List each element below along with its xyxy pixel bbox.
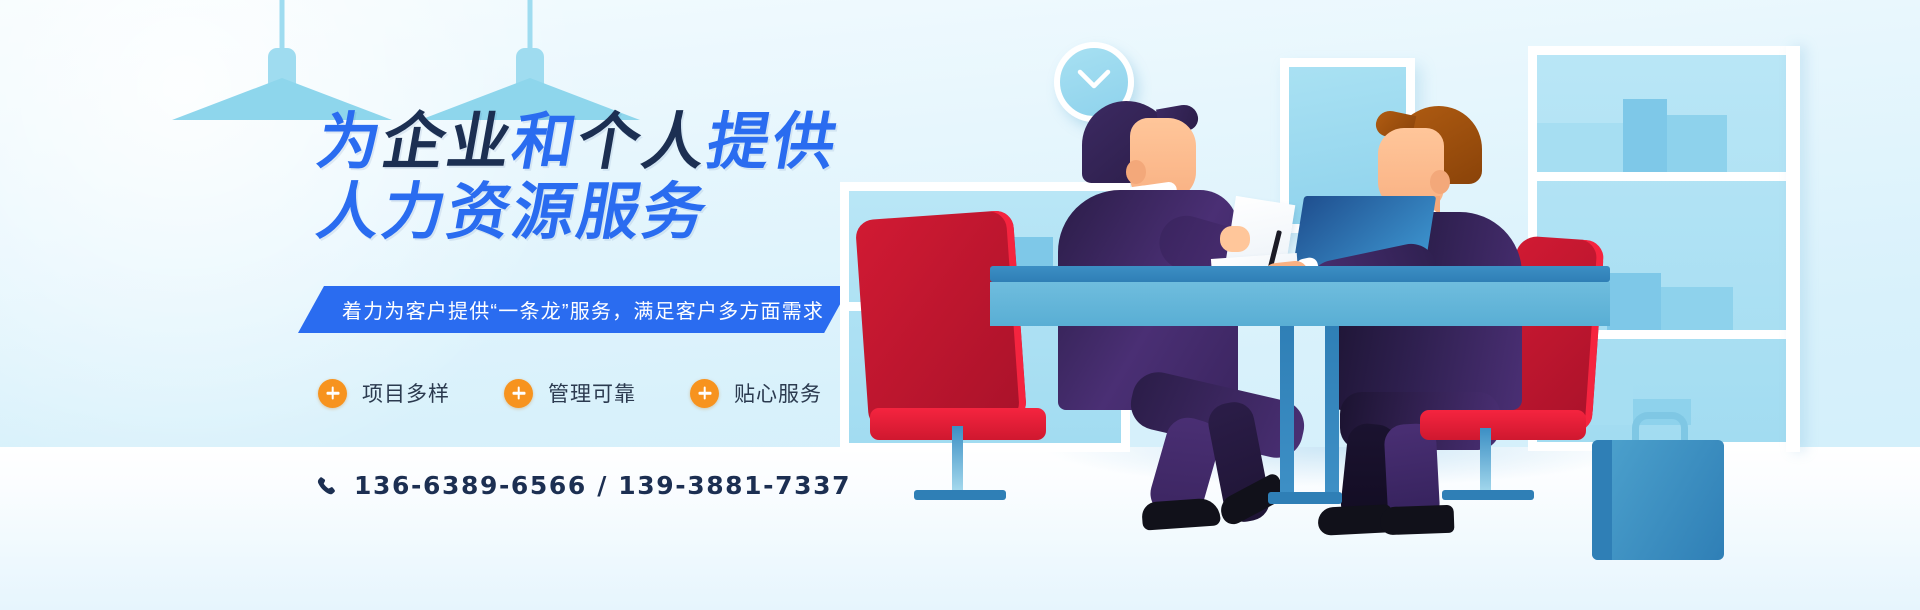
desk-body xyxy=(990,282,1610,326)
lamp-cord xyxy=(280,0,285,52)
person-left-hand xyxy=(1220,226,1250,252)
headline-block: 为企业和个人提供 人力资源服务 xyxy=(318,108,838,248)
feature-item[interactable]: 项目多样 xyxy=(318,378,450,408)
clock-hands-icon xyxy=(1077,69,1111,91)
office-illustration xyxy=(980,0,1920,610)
desk-top xyxy=(990,266,1610,282)
lamp-cord xyxy=(528,0,533,52)
feature-item[interactable]: 管理可靠 xyxy=(504,378,636,408)
shelf-divider xyxy=(1537,172,1789,181)
headline-segment: 提供 xyxy=(702,108,844,177)
phone-number: 136-6389-6566 / 139-3881-7337 xyxy=(354,471,851,500)
desk-foot xyxy=(1268,492,1342,504)
person-right-shoe xyxy=(1380,505,1455,536)
subtitle-text: 着力为客户提供“一条龙”服务，满足客户多方面需求 xyxy=(342,295,824,324)
hero-banner: 为企业和个人提供 人力资源服务 着力为客户提供“一条龙”服务，满足客户多方面需求… xyxy=(0,0,1920,610)
headline-segment: 企业 xyxy=(377,108,519,177)
feature-list: 项目多样 管理可靠 贴心服务 xyxy=(318,378,822,408)
headline-segment: 为 xyxy=(312,108,389,177)
shelf-post xyxy=(1786,46,1800,452)
feature-item[interactable]: 贴心服务 xyxy=(690,378,822,408)
plus-icon xyxy=(504,379,533,408)
feature-label: 贴心服务 xyxy=(734,378,822,408)
contact-row[interactable]: 136-6389-6566 / 139-3881-7337 xyxy=(316,471,851,500)
chair-stem-left xyxy=(952,426,963,494)
headline-line-2: 人力资源服务 xyxy=(312,178,844,248)
person-right-ear xyxy=(1430,170,1450,194)
plus-icon xyxy=(690,379,719,408)
headline-segment: 人力资源服务 xyxy=(312,178,714,247)
chair-base-left xyxy=(914,490,1006,500)
feature-label: 项目多样 xyxy=(362,378,450,408)
person-left-ear xyxy=(1126,160,1146,184)
desk-leg xyxy=(1325,326,1339,498)
briefcase-edge xyxy=(1592,440,1612,560)
headline-line-1: 为企业和个人提供 xyxy=(312,108,844,178)
chair-base-right xyxy=(1442,490,1534,500)
headline-segment: 个人 xyxy=(572,108,714,177)
feature-label: 管理可靠 xyxy=(548,378,636,408)
person-left-shoe xyxy=(1141,497,1221,530)
plus-icon xyxy=(318,379,347,408)
chair-seat-right xyxy=(1420,410,1586,440)
headline-segment: 和 xyxy=(507,108,584,177)
desk-leg xyxy=(1280,326,1294,498)
chair-stem-right xyxy=(1480,428,1491,496)
subtitle-ribbon: 着力为客户提供“一条龙”服务，满足客户多方面需求 xyxy=(298,286,850,333)
phone-icon xyxy=(316,475,338,497)
